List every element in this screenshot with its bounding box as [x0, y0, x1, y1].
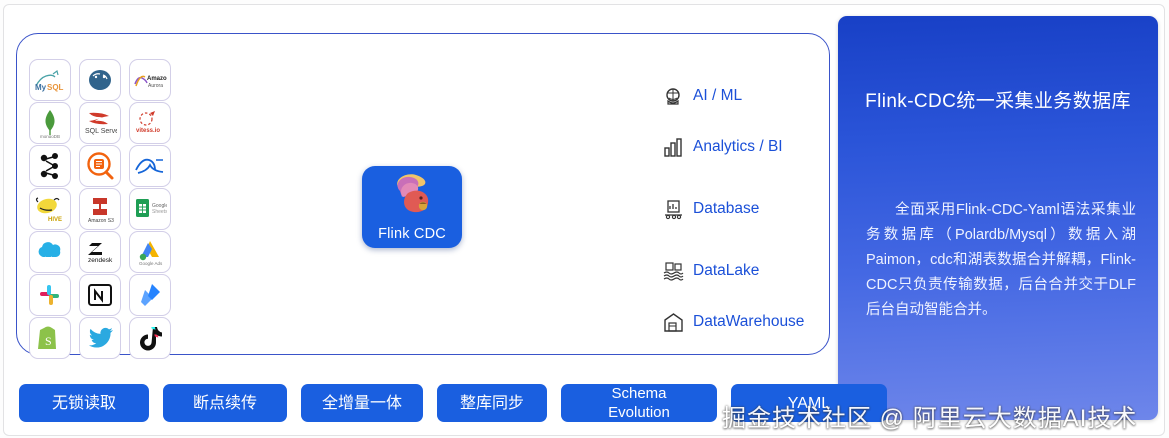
sql-server-icon: SQL Server	[83, 110, 117, 136]
datawarehouse-icon	[663, 312, 684, 333]
source-tile-google-sheets[interactable]: Google Sheets	[129, 188, 171, 230]
watermark-text: 掘金技术社区 @ 阿里云大数据AI技术	[722, 398, 1137, 433]
source-tile-zendesk[interactable]: zendesk	[79, 231, 121, 273]
slide-canvas: My SQL Amazon Aurora	[0, 0, 1169, 438]
twitter-icon	[85, 325, 115, 351]
apache-hive-icon: HIVE	[34, 195, 66, 223]
zendesk-icon: zendesk	[84, 239, 116, 265]
tiktok-icon	[136, 324, 164, 352]
feature-button-schema-evolution[interactable]: Schema Evolution	[561, 384, 717, 422]
feature-button-resume-from-checkpoint[interactable]: 断点续传	[163, 384, 287, 422]
info-panel-title: Flink-CDC统一采集业务数据库	[838, 86, 1158, 113]
source-tile-amazon-s3[interactable]: Amazon S3	[79, 188, 121, 230]
svg-text:HIVE: HIVE	[48, 217, 62, 223]
source-tile-elasticsearch[interactable]	[79, 145, 121, 187]
svg-text:Amazon S3: Amazon S3	[88, 218, 114, 224]
notion-icon	[86, 281, 114, 309]
datalake-icon	[663, 261, 684, 282]
svg-text:Amazon: Amazon	[147, 76, 167, 82]
destination-label: AI / ML	[693, 87, 742, 105]
feature-button-whole-database-sync[interactable]: 整库同步	[437, 384, 547, 422]
source-tile-salesforce[interactable]: salesforce	[29, 231, 71, 273]
source-tile-apache-hive[interactable]: HIVE	[29, 188, 71, 230]
analytics-bi-icon	[663, 137, 684, 158]
source-tile-slack[interactable]	[29, 274, 71, 316]
destination-label: Analytics / BI	[693, 138, 783, 156]
destination-label: DataLake	[693, 262, 759, 280]
svg-text:vitess.io: vitess.io	[136, 128, 160, 134]
vitess-icon: vitess.io	[134, 110, 166, 136]
source-tile-mongodb[interactable]: mongoDB	[29, 102, 71, 144]
source-tile-sql-server[interactable]: SQL Server	[79, 102, 121, 144]
google-ads-icon: Google Ads	[134, 238, 166, 266]
shopify-icon: S	[37, 323, 63, 353]
source-tile-twitter[interactable]	[79, 317, 121, 359]
source-tile-kafka[interactable]	[29, 145, 71, 187]
source-tile-postgresql[interactable]	[79, 59, 121, 101]
elasticsearch-icon	[85, 151, 115, 181]
svg-text:salesforce: salesforce	[40, 256, 61, 261]
jira-icon	[136, 281, 164, 309]
destination-item-ai-ml[interactable]: AI / ML	[663, 84, 742, 108]
source-tile-jira[interactable]	[129, 274, 171, 316]
svg-text:Sheets: Sheets	[152, 209, 167, 215]
feature-button-full-incremental-unified[interactable]: 全增量一体	[301, 384, 423, 422]
source-tile-tiktok[interactable]	[129, 317, 171, 359]
source-tile-vitess[interactable]: vitess.io	[129, 102, 171, 144]
amazon-aurora-icon: Amazon Aurora	[133, 68, 167, 92]
mongodb-icon: mongoDB	[36, 108, 64, 138]
source-icon-grid: My SQL Amazon Aurora	[29, 59, 171, 359]
source-tile-amazon-aurora[interactable]: Amazon Aurora	[129, 59, 171, 101]
postgresql-icon	[86, 67, 114, 93]
svg-text:S: S	[45, 334, 52, 348]
info-panel-body: 全面采用Flink-CDC-Yaml语法采集业务数据库（Polardb/Mysq…	[866, 198, 1136, 323]
info-panel: Flink-CDC统一采集业务数据库 全面采用Flink-CDC-Yaml语法采…	[838, 16, 1158, 420]
svg-text:SQL: SQL	[47, 83, 64, 92]
kafka-icon	[36, 152, 64, 180]
source-tile-google-ads[interactable]: Google Ads	[129, 231, 171, 273]
destination-label: Database	[693, 200, 759, 218]
svg-text:My: My	[35, 83, 47, 92]
oceanbase-icon	[134, 154, 166, 178]
svg-text:zendesk: zendesk	[88, 257, 113, 264]
feature-button-lock-free-read[interactable]: 无锁读取	[19, 384, 149, 422]
destination-item-datawarehouse[interactable]: DataWarehouse	[663, 310, 804, 334]
slack-icon	[36, 281, 64, 309]
flink-cdc-node[interactable]: Flink CDC	[362, 166, 462, 248]
mysql-icon: My SQL	[33, 68, 67, 92]
svg-text:Google Ads: Google Ads	[139, 261, 163, 266]
destination-item-datalake[interactable]: DataLake	[663, 259, 759, 283]
svg-text:SQL Server: SQL Server	[85, 128, 117, 135]
source-tile-shopify[interactable]: S	[29, 317, 71, 359]
ai-ml-icon	[663, 86, 684, 107]
destination-item-database[interactable]: Database	[663, 197, 759, 221]
destination-item-analytics-bi[interactable]: Analytics / BI	[663, 135, 783, 159]
destination-label: DataWarehouse	[693, 313, 804, 331]
flink-squirrel-icon	[388, 171, 436, 217]
source-tile-mysql[interactable]: My SQL	[29, 59, 71, 101]
salesforce-icon: salesforce	[33, 240, 67, 264]
flink-cdc-node-label: Flink CDC	[362, 226, 462, 242]
amazon-s3-icon: Amazon S3	[85, 194, 115, 224]
svg-text:mongoDB: mongoDB	[40, 134, 60, 138]
source-tile-oceanbase[interactable]	[129, 145, 171, 187]
database-icon	[663, 199, 684, 220]
google-sheets-icon: Google Sheets	[133, 196, 167, 222]
source-tile-notion[interactable]	[79, 274, 121, 316]
svg-text:Aurora: Aurora	[148, 83, 163, 89]
